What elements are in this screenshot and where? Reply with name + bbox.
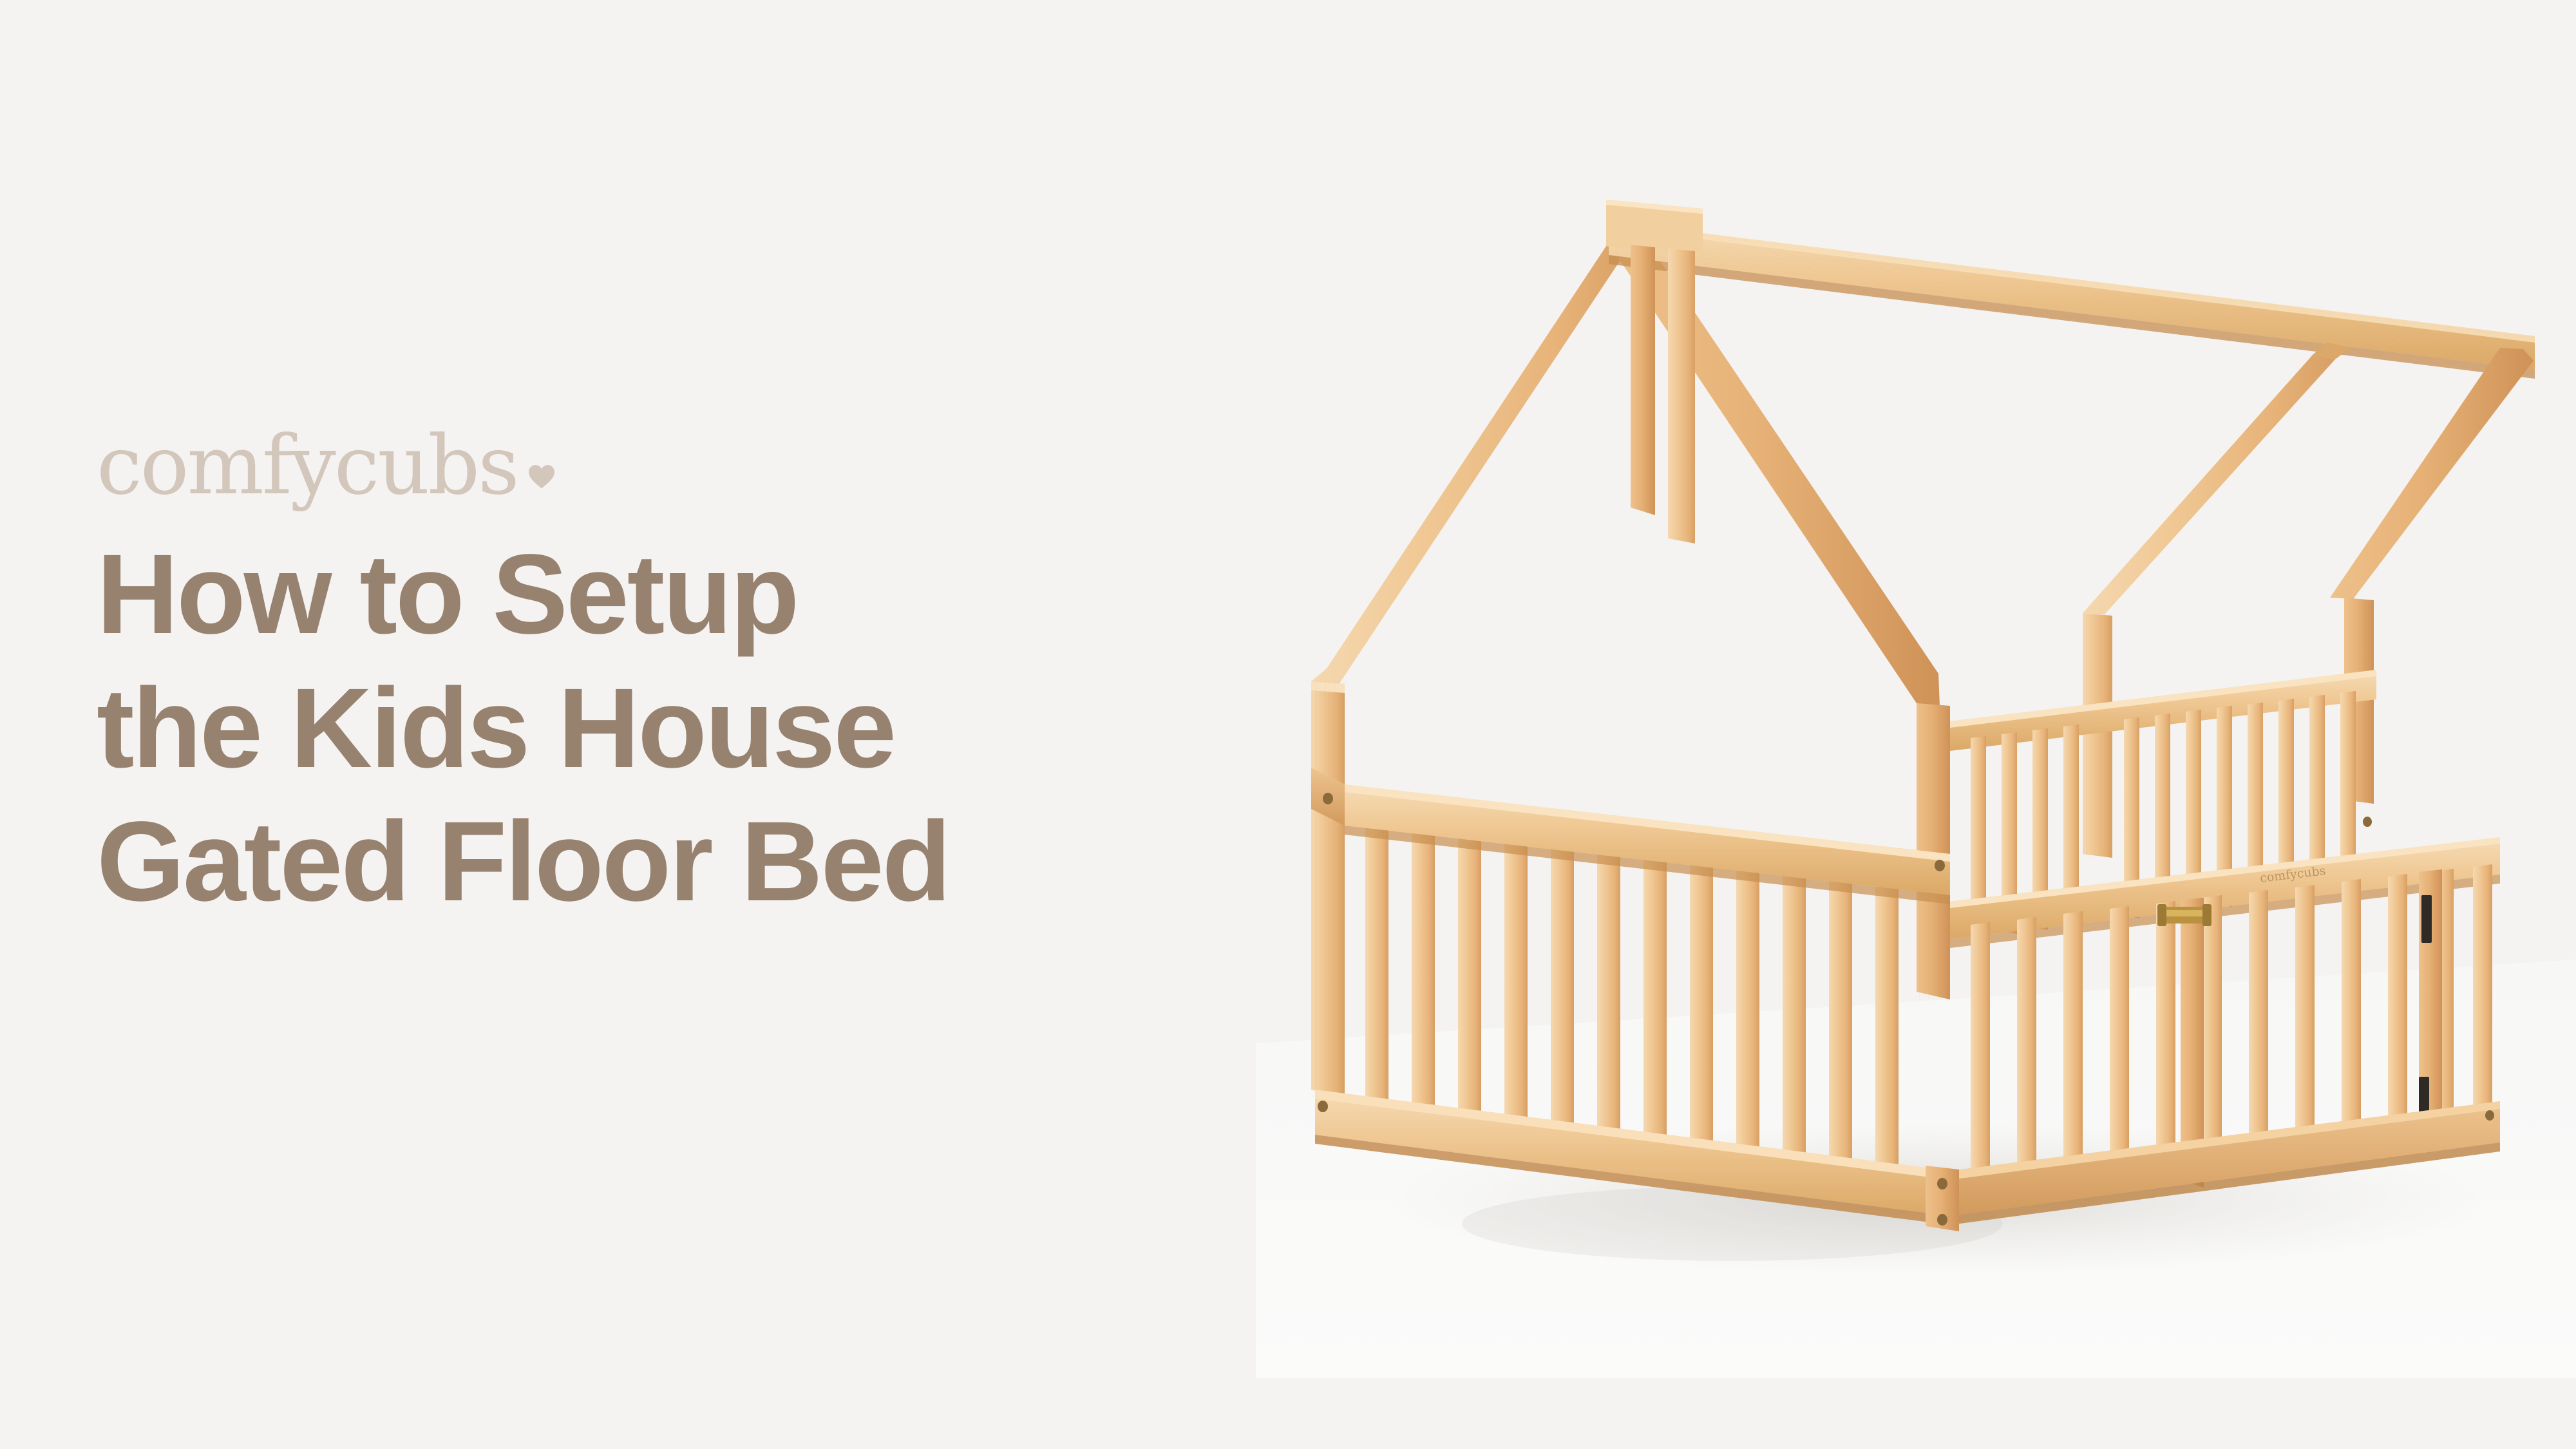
product-image: comfycubs bbox=[1256, 155, 2576, 1378]
headline-line-3: Gated Floor Bed bbox=[97, 795, 1320, 929]
roof-peak-left bbox=[1311, 231, 1640, 697]
king-post bbox=[1631, 245, 1655, 515]
headline-line-2: the Kids House bbox=[97, 662, 1320, 796]
brand-logo: comfycubs bbox=[97, 425, 1320, 506]
headline-line-1: How to Setup bbox=[97, 528, 1320, 662]
heart-icon bbox=[528, 463, 555, 490]
text-block: comfycubs How to Setup the Kids House Ga… bbox=[97, 425, 1320, 929]
promo-banner: comfycubs How to Setup the Kids House Ga… bbox=[0, 0, 2576, 1449]
king-post-2 bbox=[1668, 249, 1695, 544]
gate-latch[interactable] bbox=[2157, 904, 2211, 926]
brand-logo-text: comfycubs bbox=[97, 425, 518, 506]
page-title: How to Setup the Kids House Gated Floor … bbox=[97, 528, 1320, 929]
